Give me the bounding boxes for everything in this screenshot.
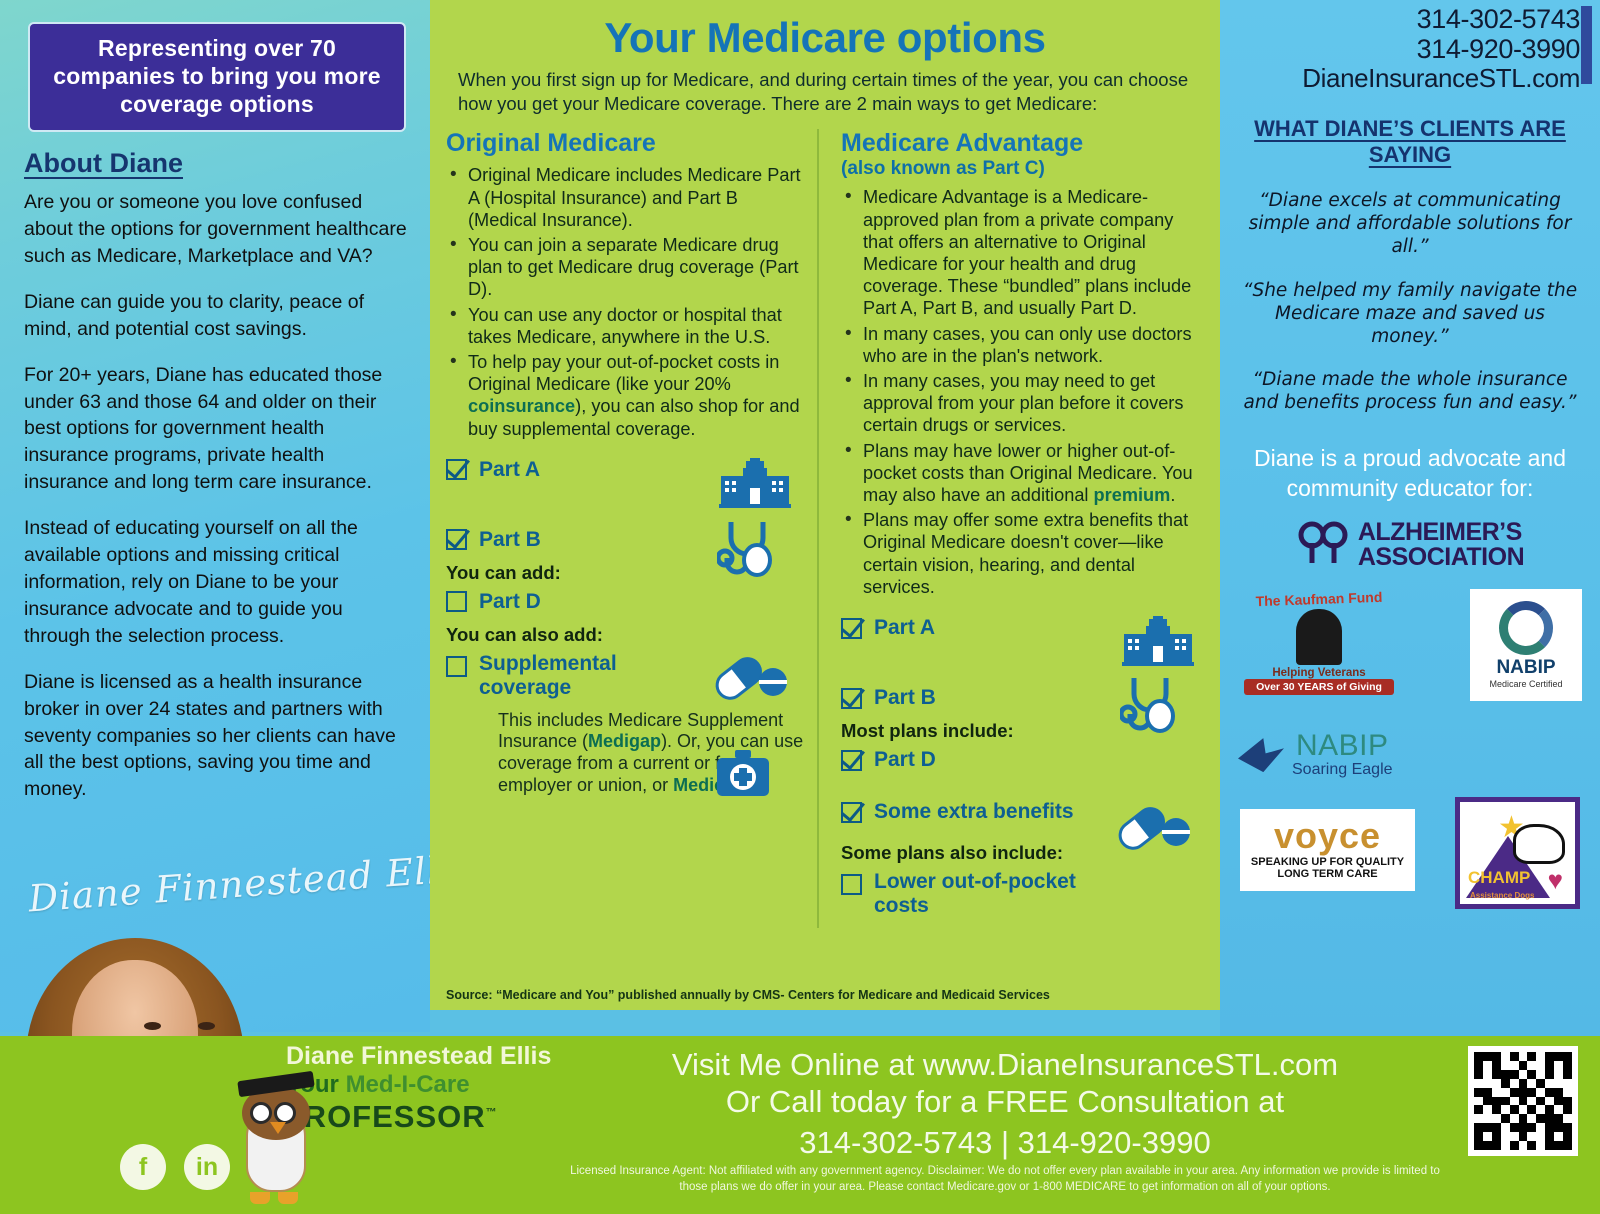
eagle-wing-icon bbox=[1238, 738, 1284, 772]
two-column-body: Original Medicare Original Medicare incl… bbox=[446, 129, 1204, 928]
bullet-item: To help pay your out-of-pocket costs in … bbox=[446, 351, 809, 440]
checkbox-label: Some extra benefits bbox=[874, 800, 1074, 824]
checkbox-label: Part A bbox=[479, 458, 540, 482]
medicare-advantage-column: Medicare Advantage (also known as Part C… bbox=[819, 129, 1204, 928]
owl-eye-right bbox=[274, 1102, 296, 1124]
checkbox-label: Part B bbox=[479, 528, 541, 552]
original-medicare-column: Original Medicare Original Medicare incl… bbox=[446, 129, 819, 928]
bullet-item: You can use any doctor or hospital that … bbox=[446, 304, 809, 348]
stethoscope-icon bbox=[717, 516, 779, 580]
about-paragraph: Diane can guide you to clarity, peace of… bbox=[24, 289, 412, 343]
cta-phone-line[interactable]: 314-302-5743 | 314-920-3990 bbox=[560, 1124, 1450, 1161]
owl-mascot-icon bbox=[228, 1078, 324, 1208]
kaufman-fund-logo: The Kaufman Fund Helping Veterans Over 3… bbox=[1244, 591, 1394, 711]
right-panel: 314-302-5743 314-920-3990 DianeInsurance… bbox=[1220, 0, 1600, 1036]
about-paragraph: For 20+ years, Diane has educated those … bbox=[24, 362, 412, 497]
pills-icon bbox=[1114, 804, 1190, 852]
proud-advocate-text: Diane is a proud advocate and community … bbox=[1234, 444, 1586, 503]
checklist-row[interactable]: Part D bbox=[446, 590, 809, 614]
owl-eye-left bbox=[250, 1102, 272, 1124]
testimonials-heading: WHAT DIANE’S CLIENTS ARE SAYING bbox=[1234, 116, 1586, 170]
alzheimers-mark-icon bbox=[1296, 519, 1350, 570]
facebook-icon[interactable]: f bbox=[120, 1144, 166, 1190]
cta-line-1[interactable]: Visit Me Online at www.DianeInsuranceSTL… bbox=[560, 1046, 1450, 1083]
about-diane-body: Are you or someone you love confused abo… bbox=[24, 189, 412, 803]
website-link[interactable]: DianeInsuranceSTL.com bbox=[1234, 64, 1580, 93]
brand-tagline: Your Med-I-Care bbox=[286, 1071, 560, 1099]
kaufman-name: The Kaufman Fund bbox=[1244, 588, 1394, 609]
nabip-soar-sub: Soaring Eagle bbox=[1292, 761, 1393, 779]
about-diane-heading: About Diane bbox=[24, 148, 412, 179]
bullet-item: In many cases, you can only use doctors … bbox=[841, 323, 1204, 367]
checklist-row[interactable]: Lower out-of-pocket costs bbox=[841, 870, 1204, 918]
about-paragraph: Are you or someone you love confused abo… bbox=[24, 189, 412, 270]
brand-medicare-word: Med-I-Care bbox=[346, 1071, 470, 1098]
blue-accent-bar bbox=[1581, 6, 1592, 84]
about-paragraph: Instead of educating yourself on all the… bbox=[24, 515, 412, 650]
intro-text: When you first sign up for Medicare, and… bbox=[458, 68, 1204, 115]
dog-icon bbox=[1513, 824, 1565, 864]
checkbox-lower-oop[interactable] bbox=[841, 874, 862, 895]
alzheimers-text: ALZHEIMER’S ASSOCIATION bbox=[1358, 520, 1524, 569]
photo-eye-left bbox=[144, 1022, 161, 1030]
testimonial: “Diane made the whole insurance and bene… bbox=[1234, 368, 1586, 414]
checkbox-extra-benefits[interactable] bbox=[841, 802, 862, 823]
alzheimers-line2: ASSOCIATION bbox=[1358, 545, 1524, 570]
testimonial: “She helped my family navigate the Medic… bbox=[1234, 279, 1586, 348]
photo-eye-right bbox=[198, 1022, 215, 1030]
checkbox-supplemental[interactable] bbox=[446, 656, 467, 677]
checkbox-label: Supplemental coverage bbox=[479, 652, 649, 700]
checklist-row[interactable]: Part D bbox=[841, 748, 1204, 772]
nabip-soar-name: NABIP bbox=[1292, 731, 1393, 761]
bullet-item: Original Medicare includes Medicare Part… bbox=[446, 164, 809, 231]
page-title: Your Medicare options bbox=[446, 14, 1204, 62]
kaufman-helping: Helping Veterans bbox=[1244, 667, 1394, 679]
checkbox-part-b[interactable] bbox=[446, 529, 467, 550]
champ-sub: Assistance Dogs bbox=[1470, 891, 1534, 900]
nabip-certified-logo: NABIP Medicare Certified bbox=[1470, 589, 1582, 701]
checkbox-part-d[interactable] bbox=[841, 750, 862, 771]
bullet-item: In many cases, you may need to get appro… bbox=[841, 370, 1204, 437]
nabip-soaring-eagle-logo: NABIP Soaring Eagle bbox=[1238, 731, 1393, 779]
original-medicare-heading: Original Medicare bbox=[446, 129, 809, 158]
hospital-icon bbox=[719, 458, 791, 510]
owl-foot-left bbox=[250, 1192, 270, 1204]
phone-secondary[interactable]: 314-920-3990 bbox=[1234, 34, 1580, 64]
brand-name: Diane Finnestead Ellis bbox=[286, 1042, 560, 1071]
source-citation: Source: “Medicare and You” published ann… bbox=[446, 988, 1050, 1004]
nabip-cert-name: NABIP bbox=[1496, 657, 1555, 679]
bullet-item: Plans may have lower or higher out-of-po… bbox=[841, 440, 1204, 507]
champ-name: CHAMP bbox=[1468, 868, 1530, 888]
checkbox-label: Part A bbox=[874, 616, 935, 640]
qr-grid bbox=[1474, 1052, 1572, 1150]
stethoscope-icon bbox=[1120, 672, 1182, 736]
medicare-advantage-subheading: (also known as Part C) bbox=[841, 158, 1204, 180]
center-panel: Your Medicare options When you first sig… bbox=[430, 0, 1220, 1010]
voyce-name: voyce bbox=[1274, 820, 1381, 852]
medicare-advantage-heading: Medicare Advantage bbox=[841, 129, 1204, 158]
voyce-tagline: SPEAKING UP FOR QUALITY LONG TERM CARE bbox=[1240, 856, 1415, 880]
bullet-item: You can join a separate Medicare drug pl… bbox=[446, 234, 809, 301]
checkbox-part-a[interactable] bbox=[841, 618, 862, 639]
checkbox-part-b[interactable] bbox=[841, 688, 862, 709]
bullet-item: Medicare Advantage is a Medicare-approve… bbox=[841, 186, 1204, 319]
linkedin-icon[interactable]: in bbox=[184, 1144, 230, 1190]
original-checklist: Part A Part B bbox=[446, 458, 809, 796]
qr-code[interactable] bbox=[1468, 1046, 1578, 1156]
cta-line-2: Or Call today for a FREE Consultation at bbox=[560, 1083, 1450, 1120]
checkbox-label: Lower out-of-pocket costs bbox=[874, 870, 1114, 918]
alzheimers-line1: ALZHEIMER’S bbox=[1358, 520, 1524, 545]
phone-primary[interactable]: 314-302-5743 bbox=[1234, 4, 1580, 34]
social-links: f in bbox=[120, 1144, 230, 1190]
disclaimer-text: Licensed Insurance Agent: Not affiliated… bbox=[560, 1164, 1450, 1195]
brochure-page: Representing over 70 companies to bring … bbox=[0, 0, 1600, 1214]
testimonial: “Diane excels at communicating simple an… bbox=[1234, 189, 1586, 258]
about-paragraph: Diane is licensed as a health insurance … bbox=[24, 669, 412, 804]
kaufman-veteran-icon bbox=[1296, 609, 1342, 665]
representing-box: Representing over 70 companies to bring … bbox=[28, 22, 406, 132]
partner-logos: ALZHEIMER’S ASSOCIATION The Kaufman Fund… bbox=[1234, 519, 1586, 919]
champ-assistance-dogs-logo: ★ ♥ CHAMP Assistance Dogs bbox=[1455, 797, 1580, 909]
trademark-symbol: ™ bbox=[486, 1107, 498, 1119]
hospital-icon bbox=[1122, 616, 1194, 668]
first-aid-kit-icon bbox=[715, 748, 771, 800]
heart-icon: ♥ bbox=[1548, 865, 1563, 896]
owl-foot-right bbox=[278, 1192, 298, 1204]
medicare-advantage-bullets: Medicare Advantage is a Medicare-approve… bbox=[841, 186, 1204, 598]
advantage-checklist: Part A Part B bbox=[841, 616, 1204, 918]
bullet-item: Plans may offer some extra benefits that… bbox=[841, 509, 1204, 598]
you-can-also-add-lead: You can also add: bbox=[446, 624, 809, 646]
checkbox-part-a[interactable] bbox=[446, 459, 467, 480]
owl-beak bbox=[270, 1122, 286, 1134]
original-medicare-bullets: Original Medicare includes Medicare Part… bbox=[446, 164, 809, 439]
nabip-cert-sub: Medicare Certified bbox=[1489, 679, 1562, 689]
kaufman-ribbon: Over 30 YEARS of Giving bbox=[1244, 679, 1394, 695]
voyce-logo: voyce SPEAKING UP FOR QUALITY LONG TERM … bbox=[1240, 809, 1415, 891]
checkbox-part-d[interactable] bbox=[446, 591, 467, 612]
checkbox-label: Part D bbox=[874, 748, 936, 772]
alzheimers-association-logo: ALZHEIMER’S ASSOCIATION bbox=[1234, 519, 1586, 570]
nabip-ring-icon bbox=[1499, 601, 1553, 655]
cta-block: Visit Me Online at www.DianeInsuranceSTL… bbox=[560, 1046, 1450, 1162]
contact-block: 314-302-5743 314-920-3990 DianeInsurance… bbox=[1234, 4, 1586, 94]
checkbox-label: Part D bbox=[479, 590, 541, 614]
checkbox-label: Part B bbox=[874, 686, 936, 710]
pills-icon bbox=[711, 654, 787, 702]
